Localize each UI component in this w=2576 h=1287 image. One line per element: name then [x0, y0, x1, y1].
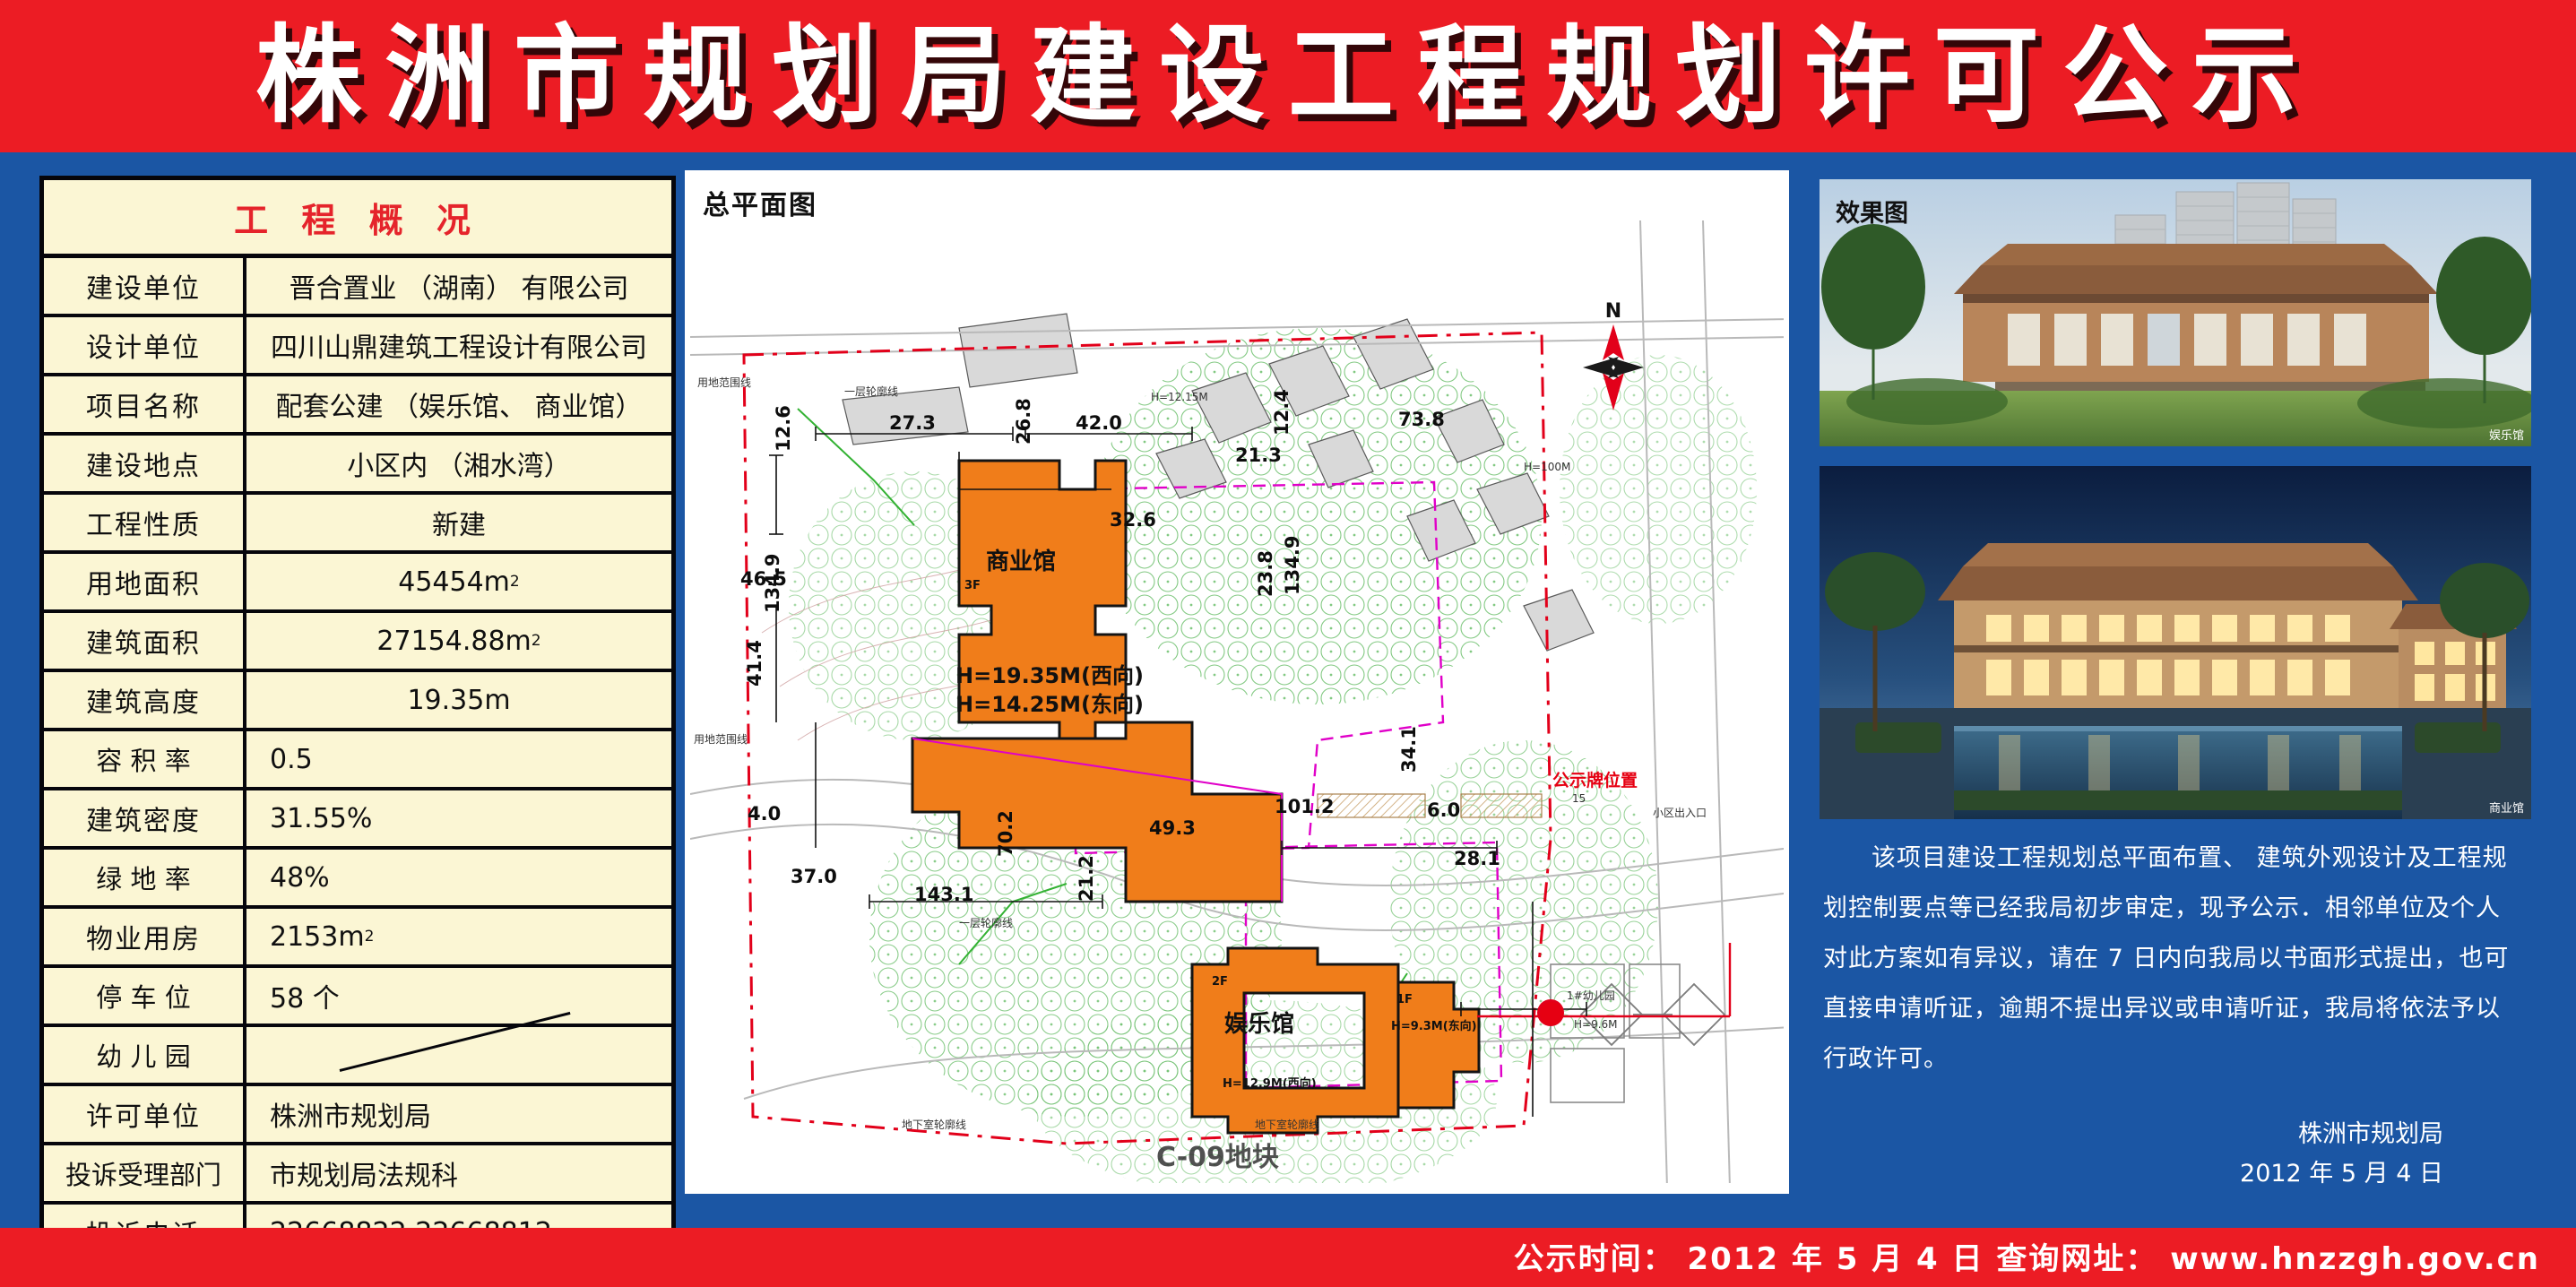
map-label-plot-c09: C-09地块 [1156, 1135, 1279, 1174]
map-dim-28-1: 28.1 [1454, 848, 1500, 869]
table-row: 建筑密度31.55% [44, 790, 671, 850]
row-value: 株洲市规划局 [246, 1086, 671, 1142]
row-value: 新建 [246, 495, 671, 550]
map-dim-37-0: 37.0 [791, 866, 837, 887]
row-value: 市规划局法规科 [246, 1145, 671, 1201]
site-plan-panel: 总平面图 [681, 167, 1793, 1197]
overview-title-row: 工 程 概 况 [44, 180, 671, 258]
table-row: 项目名称配套公建 （娱乐馆、 商业馆） [44, 376, 671, 436]
map-label-existing-height-1: H=12.15M [1151, 391, 1208, 403]
row-label: 建筑面积 [44, 613, 246, 669]
compass-rose: N [1578, 301, 1649, 418]
table-row: 容 积 率0.5 [44, 731, 671, 790]
map-dim-26-8: 26.8 [1013, 398, 1034, 445]
map-label-first-floor-outline-2: 一层轮廓线 [959, 915, 1013, 930]
map-floors-entertainment-east: 1F [1396, 993, 1413, 1006]
map-dim-12-4: 12.4 [1271, 389, 1292, 436]
row-label: 建设地点 [44, 436, 246, 491]
map-dim-143-1: 143.1 [914, 884, 973, 905]
svg-text:N: N [1605, 301, 1621, 323]
row-label: 物业用房 [44, 909, 246, 964]
notice-date: 2012 年 5 月 4 日 [1823, 1154, 2443, 1194]
map-label-existing-height-2: H=100M [1524, 461, 1570, 473]
table-row: 工程性质新建 [44, 495, 671, 554]
row-value: 45454m2 [246, 554, 671, 609]
row-label: 幼 儿 园 [44, 1027, 246, 1083]
map-dim-4-0: 4.0 [748, 803, 781, 825]
row-label: 许可单位 [44, 1086, 246, 1142]
map-dim-21-3: 21.3 [1235, 445, 1282, 466]
map-label-kindergarten: 1#幼儿园 [1567, 988, 1615, 1003]
map-label-kindergarten-height: H=9.6M [1574, 1018, 1618, 1031]
site-plan-title: 总平面图 [703, 183, 817, 222]
rendering-caption-top: 娱乐馆 [2489, 426, 2524, 443]
row-value: 19.35m [246, 672, 671, 728]
map-dim-41-4: 41.4 [744, 640, 765, 687]
row-label: 绿 地 率 [44, 850, 246, 905]
row-label: 容 积 率 [44, 731, 246, 787]
map-height-commercial-east: H=14.25M(东向) [955, 687, 1144, 718]
row-label: 建筑密度 [44, 790, 246, 846]
table-row: 绿 地 率48% [44, 850, 671, 909]
map-dim-32-6: 32.6 [1110, 509, 1156, 531]
map-building-entertainment: 娱乐馆 [1224, 1006, 1294, 1039]
row-value-empty [246, 1027, 671, 1083]
row-label: 建筑高度 [44, 672, 246, 728]
rendering-image-top: 效果图 娱乐馆 [1820, 179, 2531, 446]
row-value: 四川山鼎建筑工程设计有限公司 [246, 317, 671, 373]
map-building-commercial: 商业馆 [986, 543, 1056, 576]
overview-title: 工 程 概 况 [234, 193, 481, 242]
map-label-basement-outline: 地下室轮廓线 [902, 1117, 966, 1132]
row-label: 用地面积 [44, 554, 246, 609]
row-label: 建设单位 [44, 258, 246, 314]
table-row: 停 车 位58 个 [44, 968, 671, 1027]
notice-signature: 株洲市规划局 2012 年 5 月 4 日 [1823, 1115, 2520, 1194]
map-label-site-boundary-2: 用地范围线 [694, 731, 748, 747]
table-row: 建设地点小区内 （湘水湾） [44, 436, 671, 495]
row-label: 设计单位 [44, 317, 246, 373]
map-dim-27-3: 27.3 [889, 412, 936, 434]
rendering-and-notice-panel: 效果图 娱乐馆 [1807, 167, 2537, 1197]
map-label-basement-outline-2: 地下室轮廓线 [1255, 1117, 1319, 1132]
row-value: 27154.88m2 [246, 613, 671, 669]
row-value: 配套公建 （娱乐馆、 商业馆） [246, 376, 671, 432]
table-row: 建筑高度19.35m [44, 672, 671, 731]
public-notice: 该项目建设工程规划总平面布置、 建筑外观设计及工程规划控制要点等已经我局初步审定… [1823, 834, 2520, 1194]
map-dim-49-3: 49.3 [1149, 817, 1196, 839]
row-value: 31.55% [246, 790, 671, 846]
map-dim-42-0: 42.0 [1076, 412, 1122, 434]
map-label-first-floor-outline: 一层轮廓线 [844, 384, 898, 399]
row-value: 2153m2 [246, 909, 671, 964]
overview-rows: 建设单位晋合置业 （湖南） 有限公司设计单位四川山鼎建筑工程设计有限公司项目名称… [44, 258, 671, 1260]
map-dim-15: 15 [1572, 792, 1586, 805]
rendering-caption-bottom: 商业馆 [2489, 799, 2524, 816]
map-height-entertainment-east: H=9.3M(东向) [1391, 1016, 1477, 1033]
notice-body-text: 该项目建设工程规划总平面布置、 建筑外观设计及工程规划控制要点等已经我局初步审定… [1823, 834, 2520, 1084]
table-row: 许可单位株洲市规划局 [44, 1086, 671, 1145]
map-label-community-entrance: 小区出入口 [1653, 805, 1707, 820]
page-title: 株洲市规划局建设工程规划许可公示 [0, 16, 2576, 134]
map-dim-134-9-b: 134.9 [1282, 536, 1303, 595]
table-row: 投诉受理部门市规划局法规科 [44, 1145, 671, 1205]
page-footer: 公示时间： 2012 年 5 月 4 日 查询网址： www.hnzzgh.go… [0, 1228, 2576, 1287]
row-label: 项目名称 [44, 376, 246, 432]
rendering-label: 效果图 [1836, 194, 1908, 229]
map-dim-23-8: 23.8 [1255, 550, 1276, 597]
map-dim-101-2: 101.2 [1275, 796, 1334, 817]
row-label: 停 车 位 [44, 968, 246, 1024]
row-value: 0.5 [246, 731, 671, 787]
map-floors-entertainment: 2F [1212, 975, 1228, 989]
table-row: 建设单位晋合置业 （湖南） 有限公司 [44, 258, 671, 317]
table-row: 建筑面积27154.88m2 [44, 613, 671, 672]
map-height-commercial-west: H=19.35M(西向) [955, 658, 1144, 689]
row-label: 工程性质 [44, 495, 246, 550]
rendering-image-bottom: 商业馆 [1820, 466, 2531, 819]
map-label-notice-board-position: 公示牌位置 [1552, 767, 1638, 791]
row-value: 58 个 [246, 968, 671, 1024]
row-value: 晋合置业 （湖南） 有限公司 [246, 258, 671, 314]
row-value: 小区内 （湘水湾） [246, 436, 671, 491]
table-row: 用地面积45454m2 [44, 554, 671, 613]
project-overview-table: 工 程 概 况 建设单位晋合置业 （湖南） 有限公司设计单位四川山鼎建筑工程设计… [39, 176, 676, 1265]
map-dim-134-9: 134.9 [762, 554, 783, 613]
footer-info: 公示时间： 2012 年 5 月 4 日 查询网址： www.hnzzgh.go… [1514, 1234, 2540, 1278]
map-dim-21-2: 21.2 [1076, 855, 1097, 902]
page-header: 株洲市规划局建设工程规划许可公示 [0, 0, 2576, 152]
table-row: 设计单位四川山鼎建筑工程设计有限公司 [44, 317, 671, 376]
site-plan-canvas[interactable]: 用地范围线 一层轮廓线 用地范围线 一层轮廓线 地下室轮廓线 地下室轮廓线 27… [690, 220, 1784, 1183]
map-label-site-boundary: 用地范围线 [697, 375, 751, 390]
notice-organization: 株洲市规划局 [1823, 1115, 2443, 1154]
notice-board-marker[interactable] [1540, 1002, 1563, 1025]
map-dim-73-8: 73.8 [1398, 409, 1445, 430]
table-row: 物业用房2153m2 [44, 909, 671, 968]
map-dim-12-6: 12.6 [773, 405, 794, 452]
row-value: 48% [246, 850, 671, 905]
map-dim-6-0: 6.0 [1427, 799, 1460, 821]
map-floors-commercial: 3F [964, 579, 981, 592]
map-height-entertainment-west: H=12.9M(西向) [1223, 1074, 1317, 1091]
map-dim-34-1: 34.1 [1398, 726, 1420, 773]
table-row: 幼 儿 园 [44, 1027, 671, 1086]
map-dim-70-2: 70.2 [995, 810, 1016, 857]
row-label: 投诉受理部门 [44, 1145, 246, 1201]
